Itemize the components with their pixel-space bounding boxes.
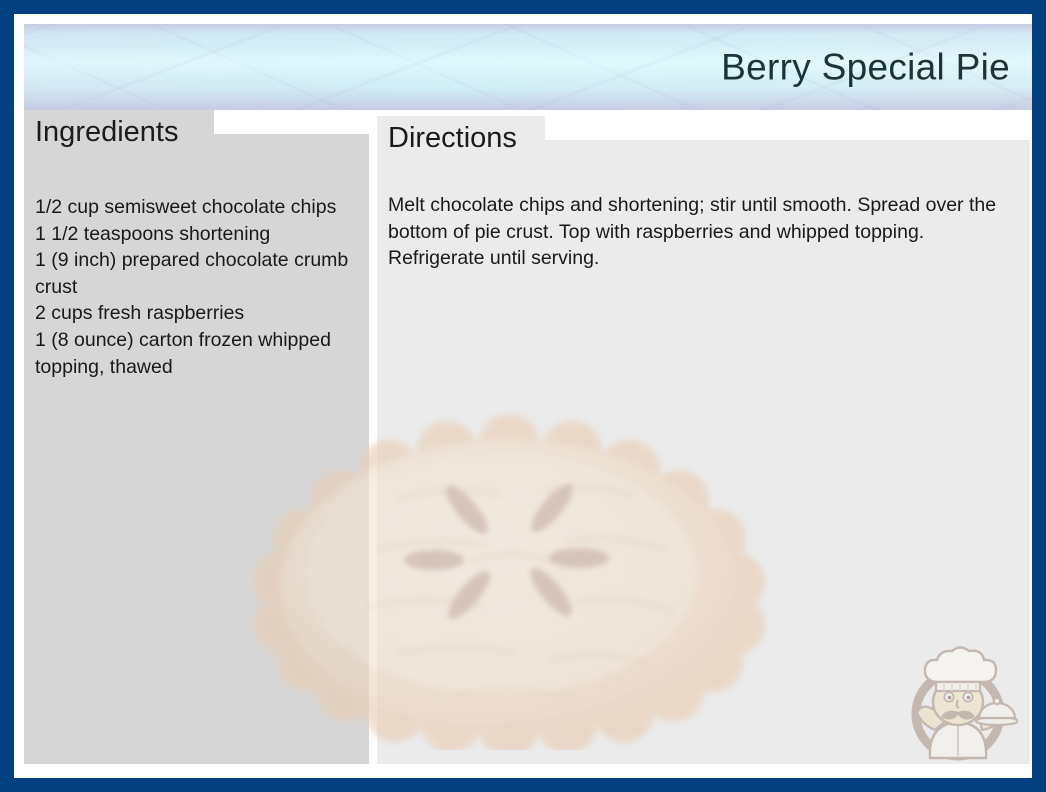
ingredients-list: 1/2 cup semisweet chocolate chips 1 1/2 … xyxy=(35,194,359,380)
directions-text: Melt chocolate chips and shortening; sti… xyxy=(388,192,1012,272)
ingredients-panel: Ingredients 1/2 cup semisweet chocolate … xyxy=(24,110,369,778)
content-area: Ingredients 1/2 cup semisweet chocolate … xyxy=(14,110,1032,778)
title-banner: Berry Special Pie xyxy=(24,24,1032,110)
directions-heading: Directions xyxy=(388,124,517,153)
ingredients-heading: Ingredients xyxy=(35,118,179,147)
page-title: Berry Special Pie xyxy=(721,49,1010,86)
recipe-card-inner: Berry Special Pie Ingredients 1/2 cup se… xyxy=(14,14,1032,778)
directions-panel: Directions Melt chocolate chips and shor… xyxy=(377,110,1030,778)
recipe-card: Berry Special Pie Ingredients 1/2 cup se… xyxy=(0,0,1046,792)
